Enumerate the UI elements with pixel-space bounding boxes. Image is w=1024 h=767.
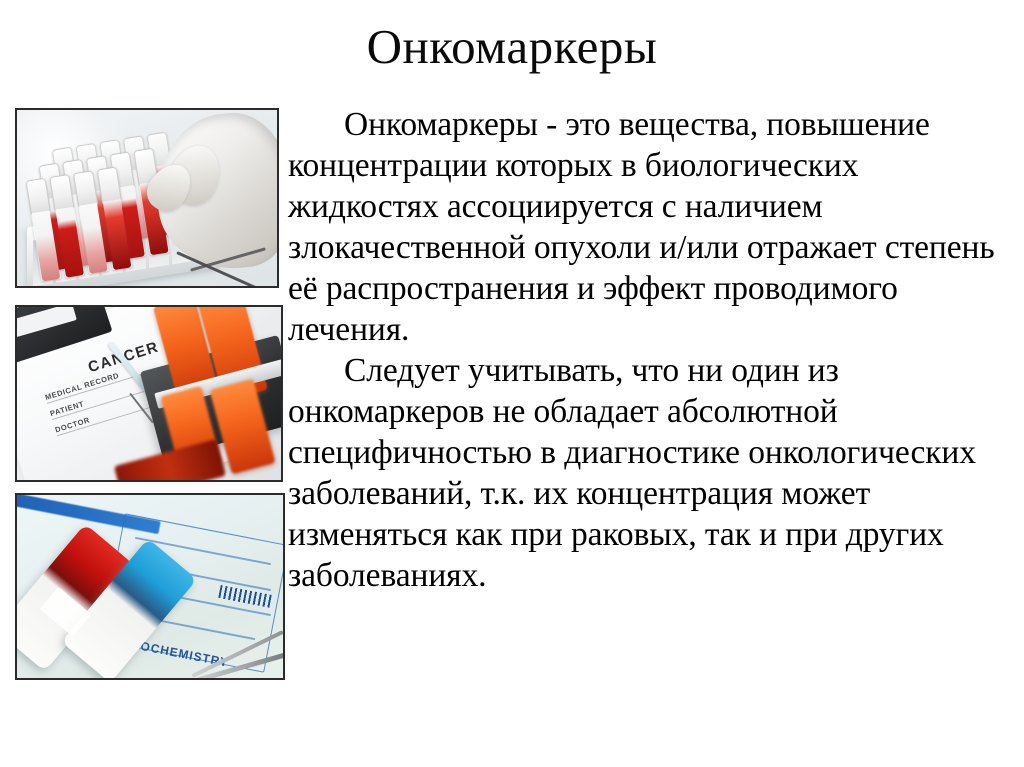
- image-cancer-unit-form: CANCER UNIT MEDICAL RECORD PATIENT DOCTO…: [15, 305, 283, 482]
- paragraph-specificity: Следует учитывать, что ни один из онкома…: [288, 350, 1004, 596]
- tube-row-front: [25, 167, 132, 282]
- slide: Онкомаркеры: [0, 0, 1024, 767]
- body-text-block: Онкомаркеры - это вещества, повышение ко…: [288, 104, 1004, 596]
- paragraph-definition: Онкомаркеры - это вещества, повышение ко…: [288, 104, 1004, 350]
- page-title: Онкомаркеры: [0, 22, 1024, 71]
- image-blood-samples-biochemistry: BIOCHEMISTRY: [15, 493, 285, 680]
- image-blood-tubes-rack-content: [17, 110, 277, 286]
- image-cancer-unit-content: CANCER UNIT MEDICAL RECORD PATIENT DOCTO…: [17, 307, 281, 480]
- image-blood-samples-content: BIOCHEMISTRY: [17, 495, 283, 678]
- clipboard-clip: [17, 307, 77, 337]
- image-blood-tubes-rack: [15, 108, 279, 288]
